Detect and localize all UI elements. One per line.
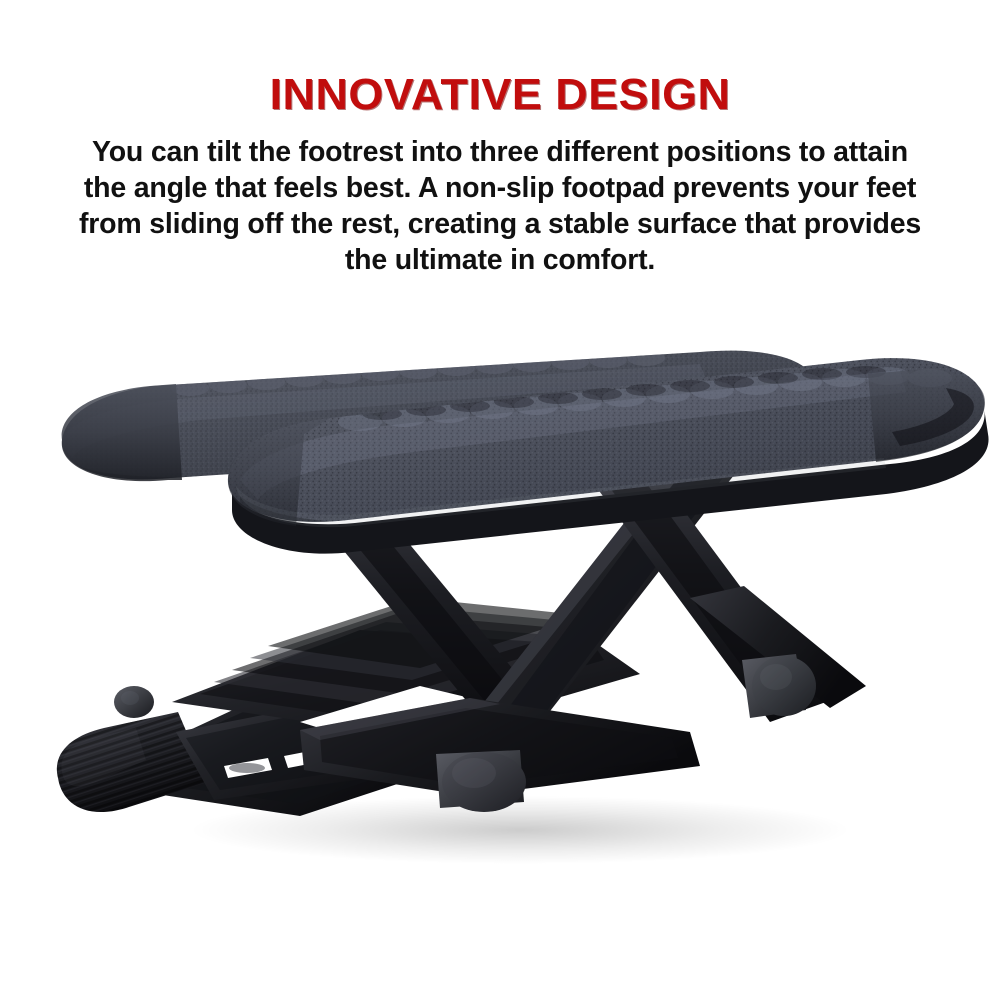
- page-title: INNOVATIVE DESIGN: [0, 69, 1000, 121]
- description-line: the angle that feels best. A non-slip fo…: [60, 170, 940, 206]
- product-feature-panel: INNOVATIVE DESIGN You can tilt the footr…: [0, 0, 1000, 1000]
- description-line: from sliding off the rest, creating a st…: [60, 206, 940, 242]
- description-line: the ultimate in comfort.: [60, 242, 940, 278]
- foot-cap-front: [436, 750, 526, 812]
- pivot-knuckle: [114, 686, 154, 718]
- product-photo: [0, 330, 1000, 890]
- foot-cap-right: [742, 654, 816, 718]
- description-line: You can tilt the footrest into three dif…: [60, 134, 940, 170]
- footrest-illustration: [0, 330, 1000, 890]
- description-paragraph: You can tilt the footrest into three dif…: [60, 134, 940, 278]
